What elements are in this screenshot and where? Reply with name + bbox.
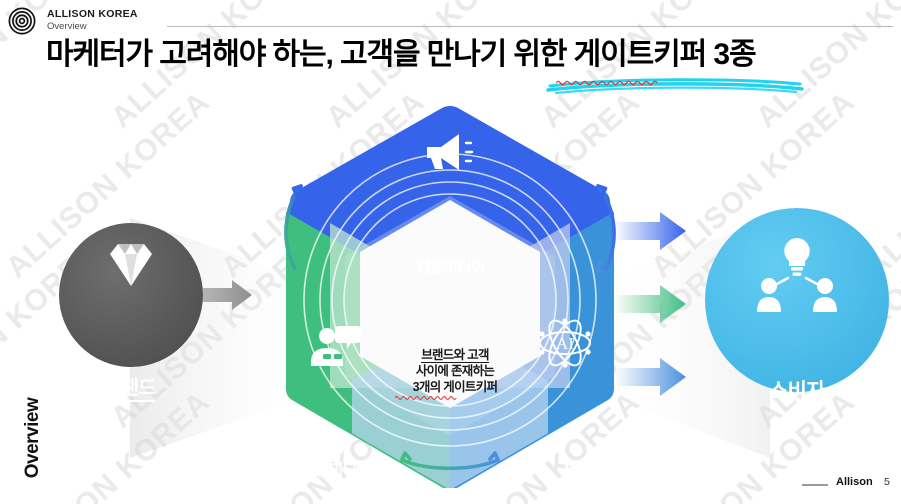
slide: ALLISON KOREAALLISON KOREAALLISON KOREAA…	[0, 0, 901, 504]
title-highlighted-part: 게이트키퍼 3종	[574, 38, 756, 71]
consumer-node	[705, 208, 889, 392]
center-message-squiggle	[395, 395, 517, 401]
brand-node	[59, 223, 203, 367]
flow-arrow-1	[614, 212, 686, 250]
brand-name: ALLISON KOREA	[47, 8, 138, 20]
center-message: 브랜드와 고객 사이에 존재하는 3개의 게이트키퍼	[365, 347, 545, 395]
header-section-label: Overview	[47, 21, 138, 33]
page-title: 마케터가 고려해야 하는, 고객을 만나기 위한 게이트키퍼 3종	[46, 38, 755, 72]
title-squiggle-underline	[556, 79, 752, 86]
hexagon-cluster: AI	[286, 106, 614, 488]
gatekeeper-diagram: AI	[0, 88, 901, 488]
center-message-line-2: 사이에 존재하는	[365, 363, 545, 379]
header-divider	[167, 26, 893, 27]
svg-text:AI: AI	[556, 334, 574, 353]
center-message-line-1: 브랜드와 고객	[421, 348, 489, 363]
footer-brand: Allison	[836, 476, 873, 488]
footer-divider	[802, 484, 828, 486]
center-message-line-3: 3개의 게이트키퍼	[365, 379, 545, 395]
section-side-label: Overview	[22, 383, 44, 493]
slide-header: ALLISON KOREA Overview	[0, 0, 901, 38]
title-plain-part: 마케터가 고려해야 하는, 고객을 만나기 위한	[46, 38, 574, 71]
footer-page-number: 5	[884, 476, 890, 488]
concentric-circles-logo-icon	[8, 7, 36, 35]
brand-block: ALLISON KOREA Overview	[47, 8, 138, 33]
